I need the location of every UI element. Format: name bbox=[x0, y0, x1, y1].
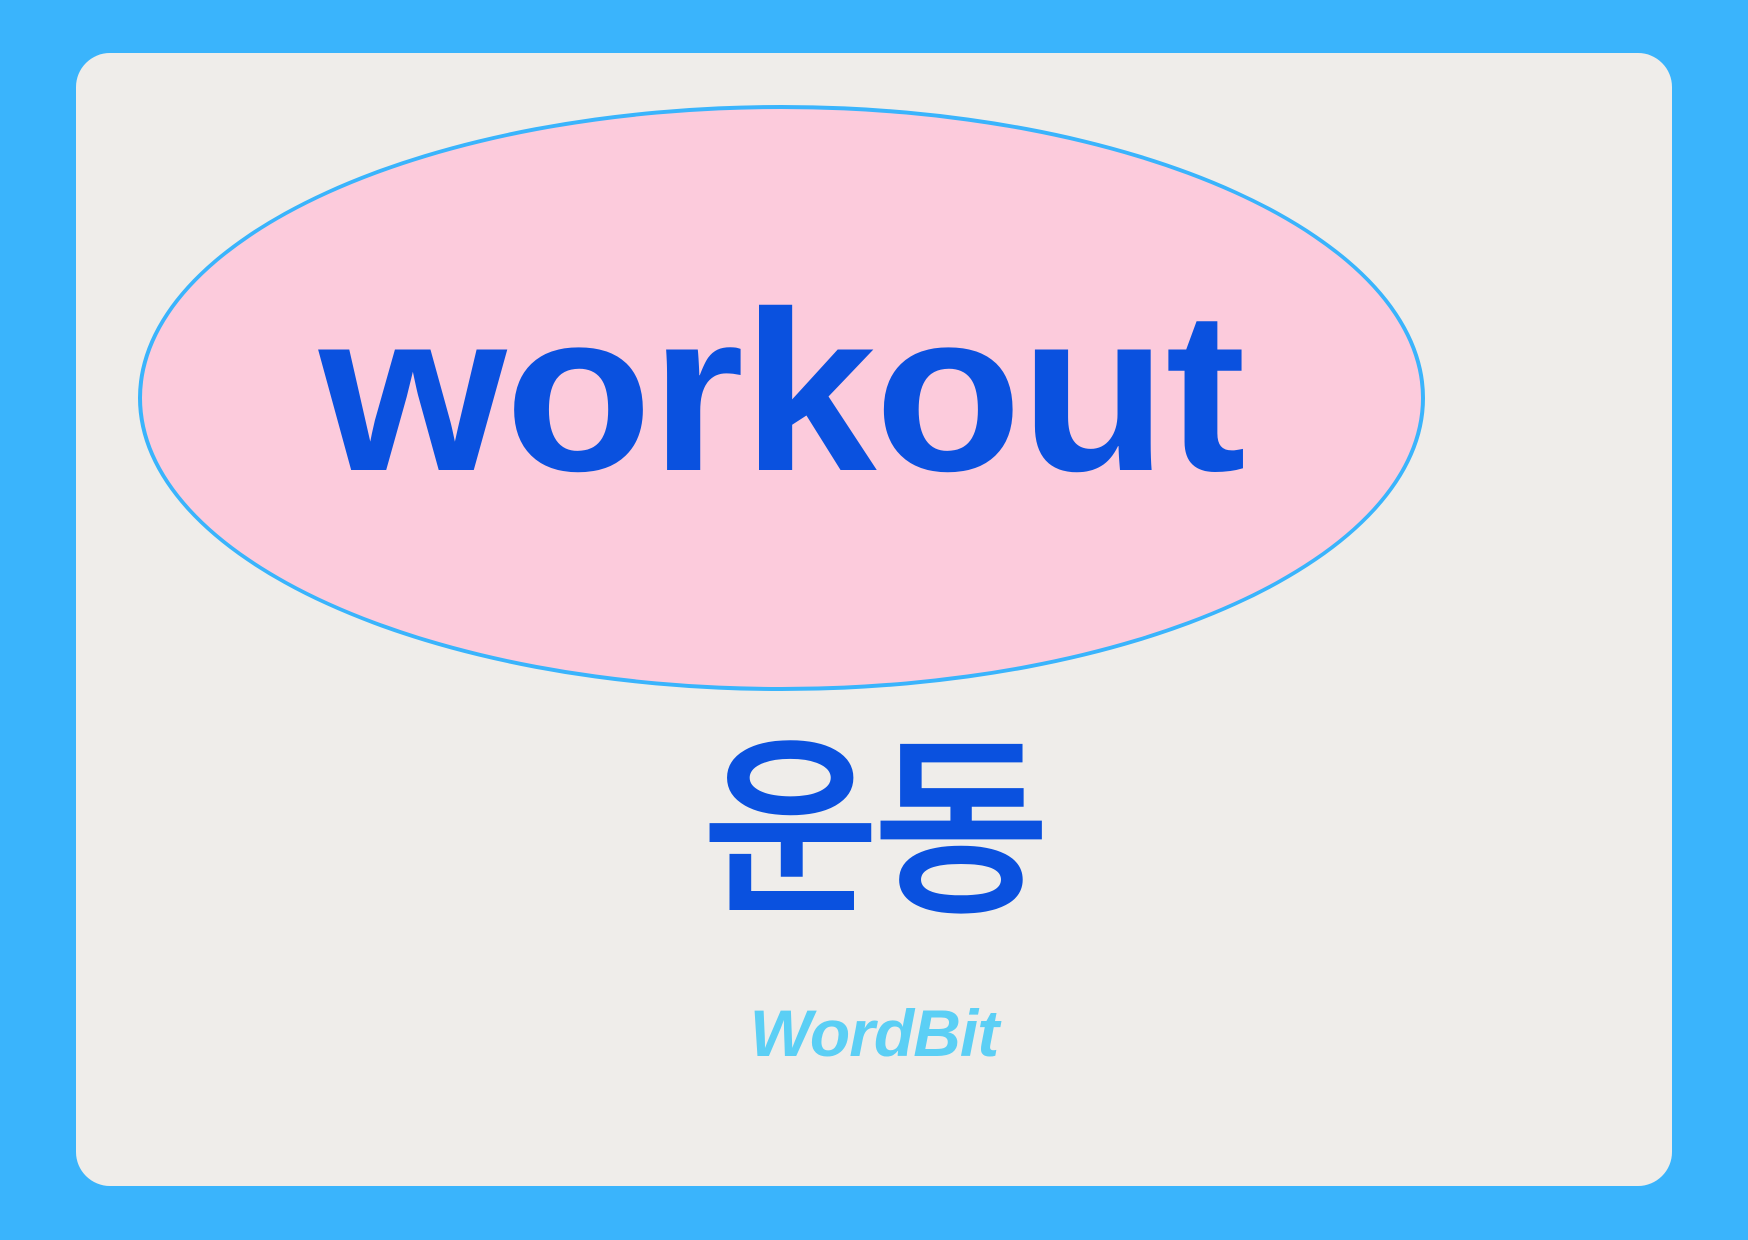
flashcard-screen: { "app": { "brand_name": "WordBit", "bra… bbox=[0, 0, 1748, 1240]
term-word: workout bbox=[319, 278, 1244, 506]
translation-word: 운동 bbox=[76, 736, 1672, 926]
flashcard[interactable]: workout 운동 WordBit bbox=[76, 53, 1672, 1186]
term-highlight-ellipse: workout bbox=[138, 105, 1425, 691]
brand-wordmark: WordBit bbox=[76, 1000, 1672, 1066]
